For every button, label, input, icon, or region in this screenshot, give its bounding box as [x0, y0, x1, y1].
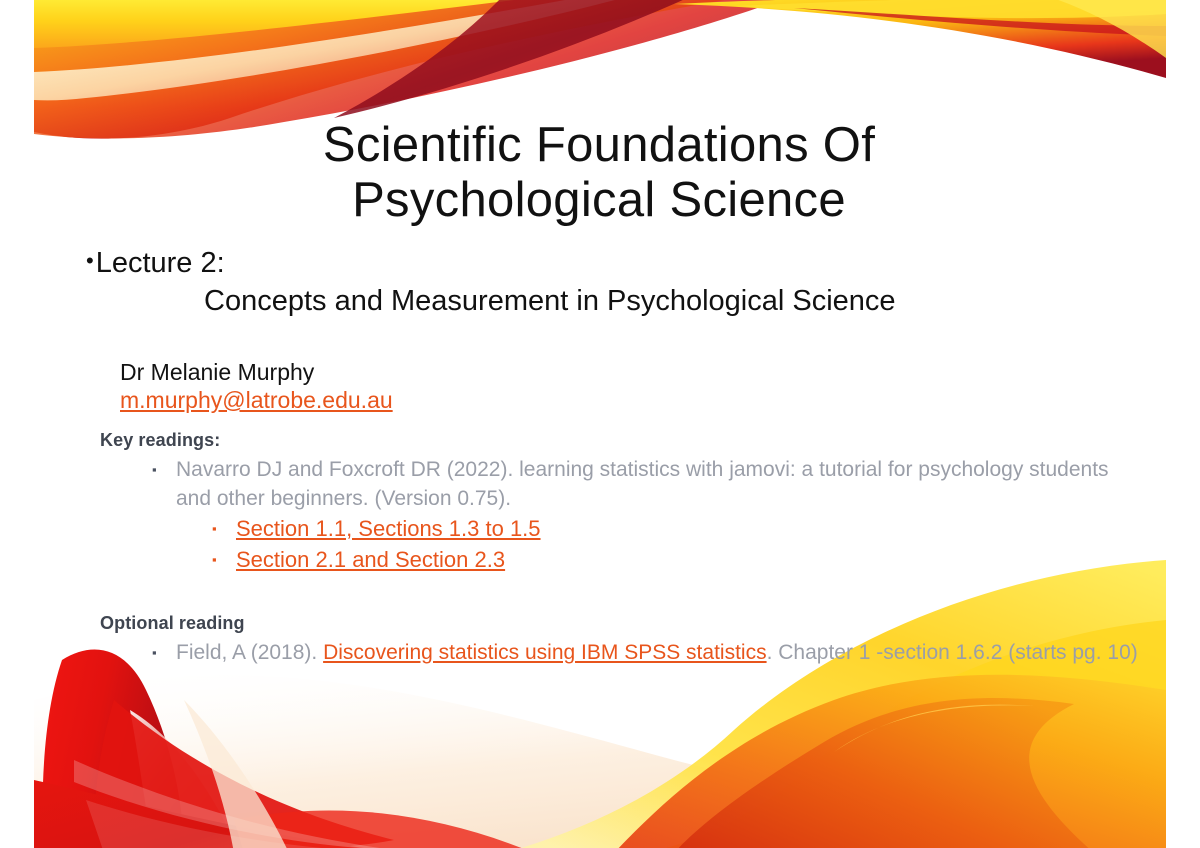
section-link-2[interactable]: Section 2.1 and Section 2.3	[236, 547, 505, 572]
title-line-1: Scientific Foundations Of	[94, 118, 1104, 173]
list-item: ▪ Section 1.1, Sections 1.3 to 1.5	[212, 514, 1160, 544]
key-reading-citation: Navarro DJ and Foxcroft DR (2022). learn…	[176, 455, 1138, 513]
section-link-1[interactable]: Section 1.1, Sections 1.3 to 1.5	[236, 516, 541, 541]
optional-reading-citation: Field, A (2018). Discovering statistics …	[176, 638, 1138, 667]
square-bullet-icon: ▪	[152, 638, 176, 667]
list-item: ▪ Navarro DJ and Foxcroft DR (2022). lea…	[152, 455, 1160, 513]
slide-canvas: Scientific Foundations Of Psychological …	[34, 0, 1166, 848]
spacer	[100, 575, 1160, 613]
slide-content: Scientific Foundations Of Psychological …	[34, 0, 1166, 848]
square-bullet-icon: ▪	[212, 545, 236, 575]
lecture-block: • Lecture 2: Concepts and Measurement in…	[86, 246, 1136, 319]
author-name: Dr Melanie Murphy	[120, 358, 393, 386]
page-title: Scientific Foundations Of Psychological …	[94, 118, 1104, 228]
author-block: Dr Melanie Murphy m.murphy@latrobe.edu.a…	[120, 358, 393, 414]
lecture-label: Lecture 2:	[96, 246, 225, 281]
bullet-icon: •	[86, 246, 94, 276]
author-email-link[interactable]: m.murphy@latrobe.edu.au	[120, 386, 393, 414]
lecture-label-row: • Lecture 2:	[86, 246, 1136, 281]
spss-book-link[interactable]: Discovering statistics using IBM SPSS st…	[323, 641, 766, 664]
lecture-subtitle: Concepts and Measurement in Psychologica…	[204, 284, 1136, 319]
square-bullet-icon: ▪	[212, 514, 236, 544]
citation-suffix: . Chapter 1 -section 1.6.2 (starts pg. 1…	[767, 641, 1138, 664]
citation-prefix: Field, A (2018).	[176, 641, 323, 664]
optional-reading-heading: Optional reading	[100, 613, 1160, 634]
list-item: ▪ Section 2.1 and Section 2.3	[212, 545, 1160, 575]
list-item: ▪ Field, A (2018). Discovering statistic…	[152, 638, 1160, 667]
square-bullet-icon: ▪	[152, 455, 176, 513]
title-line-2: Psychological Science	[94, 173, 1104, 228]
readings-section: Key readings: ▪ Navarro DJ and Foxcroft …	[100, 430, 1160, 667]
key-readings-heading: Key readings:	[100, 430, 1160, 451]
